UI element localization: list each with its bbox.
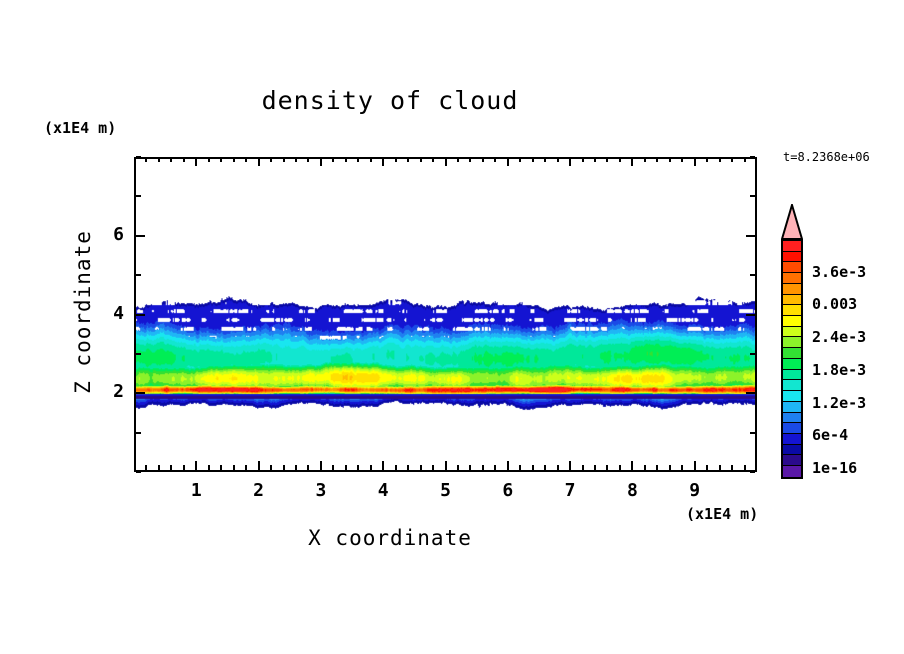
x-tick-minor-top — [669, 157, 671, 162]
x-tick-minor — [145, 465, 147, 470]
x-tick-major — [382, 461, 384, 470]
x-tick-minor — [557, 465, 559, 470]
colorbar-overflow-arrow-icon — [781, 204, 803, 240]
x-tick-minor — [420, 465, 422, 470]
x-tick-minor-top — [656, 157, 658, 162]
x-tick-label: 5 — [431, 480, 461, 501]
y-tick-minor — [136, 156, 141, 158]
x-tick-minor — [582, 465, 584, 470]
x-tick-major-top — [195, 157, 197, 166]
x-tick-minor — [295, 465, 297, 470]
x-tick-major-top — [382, 157, 384, 166]
x-tick-minor — [432, 465, 434, 470]
x-tick-major-top — [258, 157, 260, 166]
colorbar-segment — [783, 273, 801, 284]
colorbar-segment — [783, 327, 801, 338]
x-tick-minor — [283, 465, 285, 470]
y-tick-minor — [136, 195, 141, 197]
x-tick-minor-top — [619, 157, 621, 162]
x-tick-minor-top — [469, 157, 471, 162]
colorbar-segment — [783, 348, 801, 359]
y-tick-major — [136, 235, 145, 237]
colorbar-segment — [783, 370, 801, 381]
x-tick-minor-top — [170, 157, 172, 162]
x-tick-minor-top — [482, 157, 484, 162]
colorbar-segment — [783, 316, 801, 327]
colorbar-tick-label: 1e-16 — [812, 459, 857, 477]
x-tick-minor-top — [220, 157, 222, 162]
x-tick-minor-top — [606, 157, 608, 162]
x-tick-minor — [233, 465, 235, 470]
x-tick-major-top — [507, 157, 509, 166]
x-tick-minor-top — [395, 157, 397, 162]
page-title: density of cloud — [0, 86, 780, 115]
y-tick-minor — [136, 274, 141, 276]
x-tick-minor — [519, 465, 521, 470]
x-tick-minor-top — [307, 157, 309, 162]
x-tick-minor-top — [519, 157, 521, 162]
x-tick-minor — [644, 465, 646, 470]
plot-area — [134, 157, 757, 472]
x-tick-minor — [656, 465, 658, 470]
x-tick-major — [445, 461, 447, 470]
x-tick-minor-top — [295, 157, 297, 162]
colorbar-segment — [783, 391, 801, 402]
x-tick-minor — [744, 465, 746, 470]
x-tick-minor-top — [544, 157, 546, 162]
x-tick-label: 2 — [244, 480, 274, 501]
x-tick-minor — [158, 465, 160, 470]
y-tick-minor — [136, 432, 141, 434]
x-tick-major — [258, 461, 260, 470]
colorbar-segment — [783, 359, 801, 370]
x-tick-minor — [208, 465, 210, 470]
colorbar-segment — [783, 455, 801, 466]
x-tick-minor-top — [532, 157, 534, 162]
y-tick-minor-right — [750, 432, 755, 434]
x-tick-minor-top — [681, 157, 683, 162]
colorbar-segment — [783, 262, 801, 273]
x-tick-minor-top — [706, 157, 708, 162]
x-tick-minor-top — [208, 157, 210, 162]
x-tick-major — [694, 461, 696, 470]
x-tick-minor — [681, 465, 683, 470]
colorbar-tick-label: 2.4e-3 — [812, 328, 866, 346]
x-tick-minor-top — [270, 157, 272, 162]
x-tick-minor — [370, 465, 372, 470]
x-tick-minor-top — [183, 157, 185, 162]
x-tick-major — [320, 461, 322, 470]
colorbar-segment — [783, 423, 801, 434]
x-tick-minor — [731, 465, 733, 470]
y-tick-major-right — [746, 392, 755, 394]
x-tick-minor — [532, 465, 534, 470]
x-tick-label: 1 — [181, 480, 211, 501]
x-tick-minor — [706, 465, 708, 470]
x-tick-minor-top — [245, 157, 247, 162]
x-tick-minor-top — [420, 157, 422, 162]
y-axis-title: Z coordinate — [71, 212, 95, 412]
time-annotation: t=8.2368e+06 — [783, 150, 870, 164]
y-tick-label: 2 — [94, 381, 124, 402]
colorbar-tick-label: 3.6e-3 — [812, 263, 866, 281]
x-tick-major-top — [569, 157, 571, 166]
x-tick-minor — [606, 465, 608, 470]
contour-field-canvas — [136, 159, 755, 470]
x-tick-label: 6 — [493, 480, 523, 501]
colorbar-segment — [783, 380, 801, 391]
x-tick-minor-top — [370, 157, 372, 162]
x-tick-major — [195, 461, 197, 470]
y-tick-minor-right — [750, 274, 755, 276]
colorbar-segment — [783, 284, 801, 295]
x-tick-minor — [183, 465, 185, 470]
y-tick-minor-right — [750, 195, 755, 197]
x-tick-minor-top — [719, 157, 721, 162]
x-tick-minor-top — [594, 157, 596, 162]
colorbar-segment — [783, 402, 801, 413]
x-tick-minor-top — [744, 157, 746, 162]
x-axis-unit-label: (x1E4 m) — [686, 505, 758, 523]
colorbar-segment — [783, 413, 801, 424]
y-tick-minor — [136, 471, 141, 473]
x-tick-minor — [469, 465, 471, 470]
x-tick-label: 3 — [306, 480, 336, 501]
x-tick-minor-top — [432, 157, 434, 162]
x-tick-minor — [170, 465, 172, 470]
x-tick-minor-top — [345, 157, 347, 162]
x-tick-major — [631, 461, 633, 470]
x-tick-minor — [332, 465, 334, 470]
x-tick-major-top — [320, 157, 322, 166]
colorbar-segment — [783, 295, 801, 306]
colorbar-segment — [783, 434, 801, 445]
y-tick-minor — [136, 353, 141, 355]
x-tick-minor — [482, 465, 484, 470]
x-tick-major — [569, 461, 571, 470]
x-tick-minor — [270, 465, 272, 470]
x-tick-minor — [245, 465, 247, 470]
x-tick-minor-top — [557, 157, 559, 162]
y-axis-unit-label: (x1E4 m) — [44, 119, 116, 137]
colorbar-segment — [783, 305, 801, 316]
x-tick-major-top — [694, 157, 696, 166]
y-tick-minor-right — [750, 156, 755, 158]
x-tick-minor — [395, 465, 397, 470]
x-tick-label: 8 — [617, 480, 647, 501]
y-tick-major-right — [746, 235, 755, 237]
x-tick-minor-top — [332, 157, 334, 162]
x-tick-minor — [594, 465, 596, 470]
y-tick-major — [136, 392, 145, 394]
x-axis-title: X coordinate — [0, 526, 780, 550]
x-tick-minor — [307, 465, 309, 470]
x-tick-minor — [457, 465, 459, 470]
colorbar-segment — [783, 252, 801, 263]
x-tick-label: 7 — [555, 480, 585, 501]
x-tick-minor-top — [283, 157, 285, 162]
x-tick-minor — [619, 465, 621, 470]
y-tick-label: 6 — [94, 224, 124, 245]
x-tick-major — [507, 461, 509, 470]
y-tick-minor-right — [750, 471, 755, 473]
x-tick-minor-top — [457, 157, 459, 162]
x-tick-minor-top — [233, 157, 235, 162]
colorbar-segment — [783, 466, 801, 477]
y-tick-minor-right — [750, 353, 755, 355]
colorbar-gradient — [781, 239, 803, 479]
x-tick-minor — [220, 465, 222, 470]
x-tick-minor — [544, 465, 546, 470]
x-tick-minor — [345, 465, 347, 470]
x-tick-minor — [494, 465, 496, 470]
x-tick-minor-top — [158, 157, 160, 162]
y-tick-major-right — [746, 314, 755, 316]
x-tick-label: 4 — [368, 480, 398, 501]
colorbar-segment — [783, 337, 801, 348]
x-tick-minor — [407, 465, 409, 470]
x-tick-minor-top — [494, 157, 496, 162]
y-tick-major — [136, 314, 145, 316]
x-tick-minor — [357, 465, 359, 470]
x-tick-minor-top — [145, 157, 147, 162]
x-tick-major-top — [445, 157, 447, 166]
x-tick-major-top — [631, 157, 633, 166]
figure-root: density of cloud (x1E4 m) Z coordinate X… — [0, 0, 904, 654]
colorbar-tick-label: 1.2e-3 — [812, 394, 866, 412]
colorbar-segment — [783, 241, 801, 252]
x-tick-minor-top — [644, 157, 646, 162]
x-tick-minor — [669, 465, 671, 470]
colorbar: 3.6e-30.0032.4e-31.8e-31.2e-36e-41e-16 — [779, 204, 899, 484]
colorbar-tick-label: 6e-4 — [812, 426, 848, 444]
colorbar-segment — [783, 445, 801, 456]
x-tick-minor-top — [357, 157, 359, 162]
x-tick-minor-top — [582, 157, 584, 162]
colorbar-tick-label: 1.8e-3 — [812, 361, 866, 379]
x-tick-label: 9 — [680, 480, 710, 501]
x-tick-minor-top — [731, 157, 733, 162]
y-tick-label: 4 — [94, 303, 124, 324]
colorbar-tick-label: 0.003 — [812, 295, 857, 313]
x-tick-minor-top — [407, 157, 409, 162]
x-tick-minor — [719, 465, 721, 470]
